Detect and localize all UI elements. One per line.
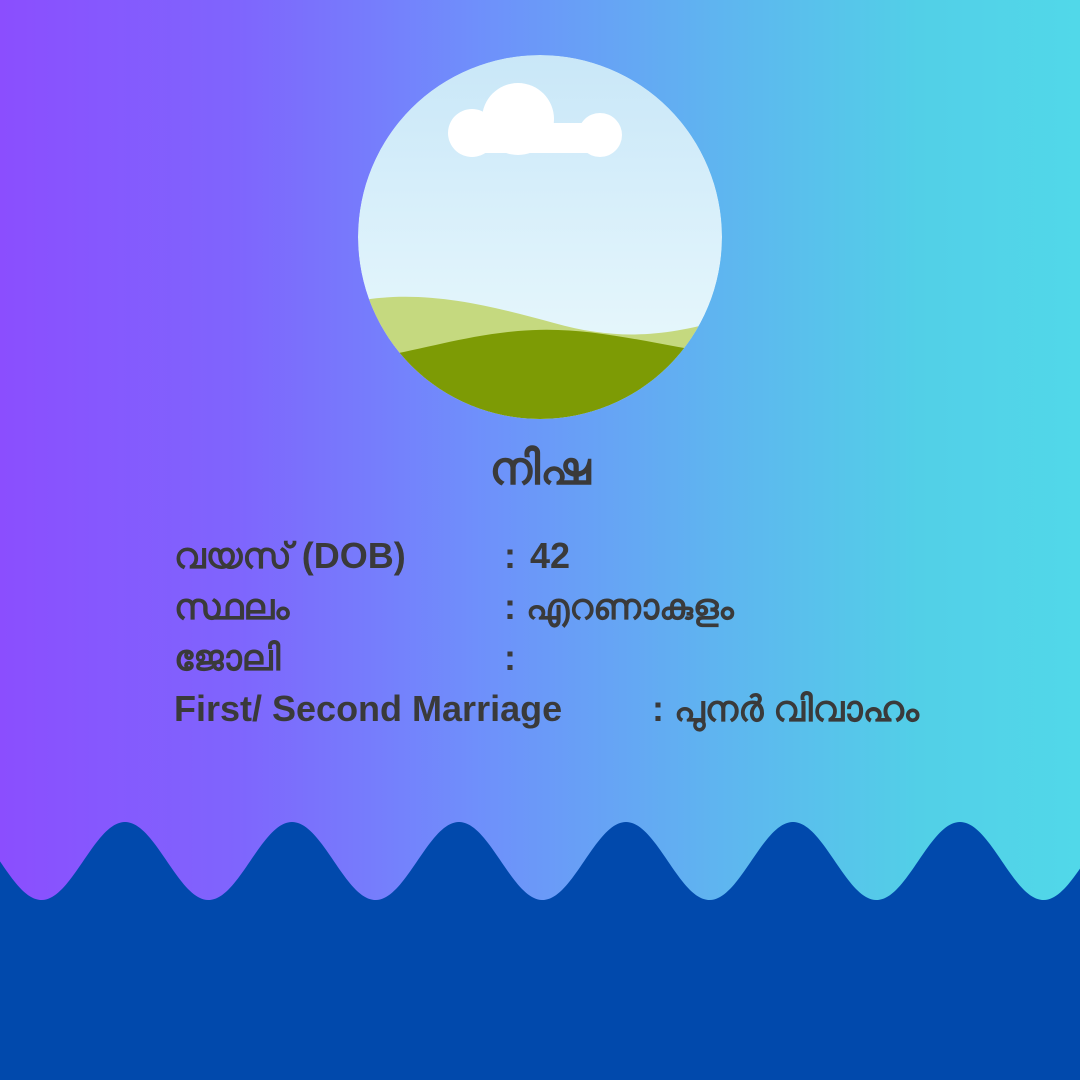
detail-row-place: സ്ഥലം : എറണാകുളം [174, 581, 1044, 632]
detail-row-marriage: First/ Second Marriage : പുനർ വിവാഹം [174, 683, 1044, 734]
detail-row-job: ജോലി : [174, 632, 1044, 683]
avatar [358, 55, 722, 419]
detail-separator-dob: : [504, 530, 516, 581]
detail-separator-place: : [504, 581, 516, 632]
page-title: നിഷ [0, 443, 1080, 494]
detail-separator-marriage: : [652, 683, 664, 734]
detail-value-dob: 42 [516, 530, 570, 581]
landscape-placeholder-icon [358, 55, 722, 419]
wave-decoration [0, 780, 1080, 1080]
wave-path [0, 822, 1080, 1080]
profile-details: വയസ് (DOB) : 42 സ്ഥലം : എറണാകുളം ജോലി : … [174, 530, 1044, 734]
detail-label-job: ജോലി [174, 632, 504, 683]
detail-label-place: സ്ഥലം [174, 581, 504, 632]
profile-card: നിഷ വയസ് (DOB) : 42 സ്ഥലം : എറണാകുളം ജോല… [0, 0, 1080, 1080]
detail-value-marriage: പുനർ വിവാഹം [664, 683, 919, 734]
detail-separator-job: : [504, 632, 516, 683]
wave-shape [0, 780, 1080, 1080]
detail-label-marriage: First/ Second Marriage [174, 683, 652, 734]
detail-row-dob: വയസ് (DOB) : 42 [174, 530, 1044, 581]
detail-value-place: എറണാകുളം [516, 581, 734, 632]
detail-label-dob: വയസ് (DOB) [174, 530, 504, 581]
